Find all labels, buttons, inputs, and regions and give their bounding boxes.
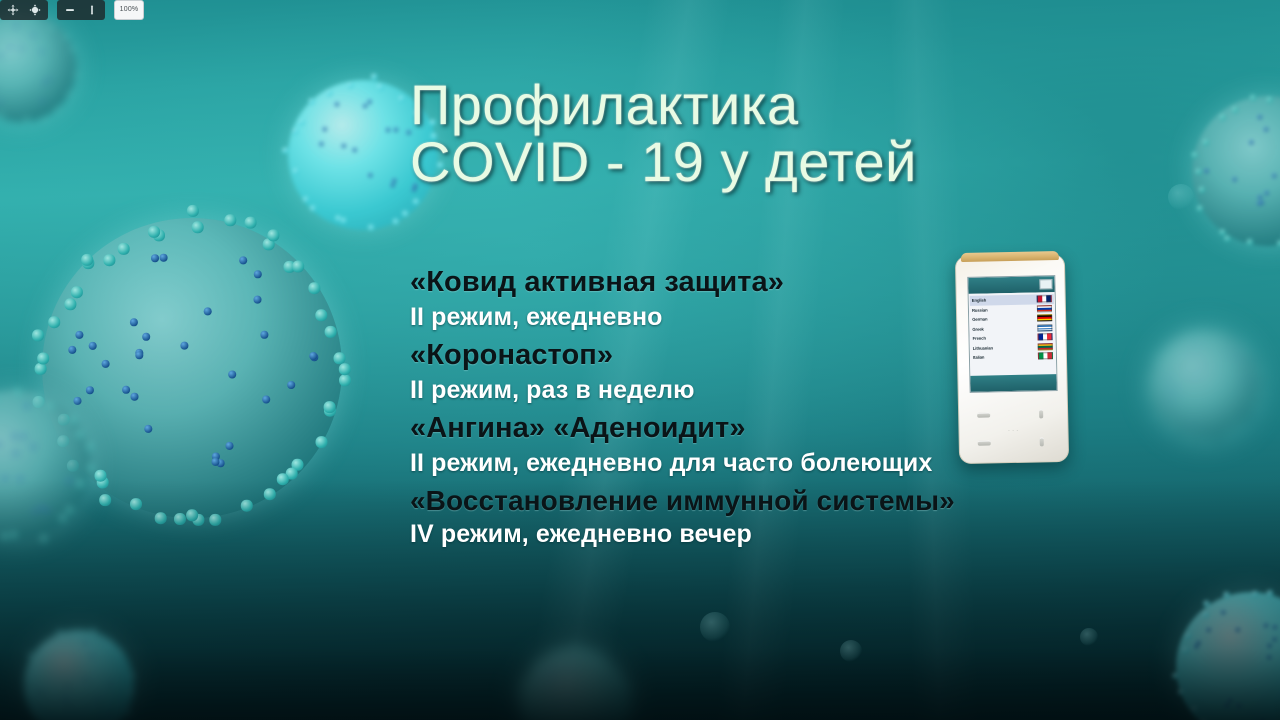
virus-spike xyxy=(87,444,93,450)
virus-spike xyxy=(187,205,198,216)
virus-receptor-dot xyxy=(204,308,212,316)
player-toolbar[interactable]: 100% xyxy=(0,0,144,22)
device-screen-statusbar xyxy=(970,374,1056,392)
virus-receptor-dot xyxy=(554,668,557,671)
virus-spike xyxy=(264,489,275,500)
virus-spike xyxy=(55,107,59,111)
virus-particle-top-left xyxy=(0,12,76,122)
virus-spike xyxy=(371,74,377,80)
virus-spike xyxy=(77,481,83,487)
program-name: «Восстановление иммунной системы» xyxy=(410,483,1200,518)
virus-spike xyxy=(1250,95,1256,101)
virus-receptor-dot xyxy=(41,99,44,102)
virus-receptor-dot xyxy=(145,425,153,433)
virus-spike xyxy=(174,513,185,524)
flag-icon xyxy=(1037,295,1052,302)
program-name: «Ковид активная защита» xyxy=(410,264,1200,301)
virus-receptor-dot xyxy=(1236,628,1240,632)
virus-receptor-dot xyxy=(353,148,357,152)
virus-receptor-dot xyxy=(1237,704,1241,708)
virus-receptor-dot xyxy=(1264,624,1268,628)
virus-receptor-dot xyxy=(545,681,548,684)
virus-receptor-dot xyxy=(65,685,68,688)
virus-receptor-dot xyxy=(254,296,262,304)
device-top-cap xyxy=(961,251,1059,262)
virus-receptor-dot xyxy=(181,342,189,350)
virus-receptor-dot xyxy=(65,701,68,704)
virus-receptor-dot xyxy=(18,477,22,481)
virus-receptor-dot xyxy=(68,708,71,711)
virus-spike xyxy=(326,90,332,96)
flag-icon xyxy=(1037,305,1052,312)
virus-receptor-dot xyxy=(310,352,318,360)
virus-spike xyxy=(70,417,76,423)
virus-receptor-dot xyxy=(1258,115,1262,119)
virus-spike xyxy=(1227,433,1231,437)
virus-receptor-dot xyxy=(239,257,247,265)
virus-spike xyxy=(1220,114,1226,120)
flag-icon xyxy=(1037,324,1052,331)
virus-receptor-dot xyxy=(1258,195,1262,199)
virus-receptor-dot xyxy=(142,333,150,341)
virus-receptor-dot xyxy=(394,128,398,132)
page-title: Профилактика COVID - 19 у детей xyxy=(410,76,1130,190)
virus-spike xyxy=(627,686,631,690)
virus-spike xyxy=(1183,647,1189,653)
virus-spike xyxy=(32,330,43,341)
virus-spike xyxy=(41,536,47,542)
virus-spike xyxy=(627,708,631,712)
title-line-1: Профилактика xyxy=(410,73,799,136)
virus-receptor-dot xyxy=(1273,625,1277,629)
virus-spike xyxy=(131,674,135,678)
virus-receptor-dot xyxy=(262,396,270,404)
virus-receptor-dot xyxy=(546,671,549,674)
device-key-left-bottom xyxy=(978,440,991,445)
language-label: Lithuanian xyxy=(973,343,993,353)
flag-icon xyxy=(1038,343,1053,350)
language-label: Greek xyxy=(972,324,984,334)
virus-spike xyxy=(347,82,353,88)
virus-receptor-dot xyxy=(33,510,37,514)
virus-spike xyxy=(1237,424,1241,428)
virus-spike xyxy=(36,395,42,401)
virus-receptor-dot xyxy=(1265,191,1269,195)
virus-spike xyxy=(1252,591,1258,597)
virus-receptor-dot xyxy=(1264,128,1268,132)
virus-body xyxy=(520,648,630,720)
virus-receptor-dot xyxy=(107,714,110,717)
virus-receptor-dot xyxy=(1221,611,1225,615)
virus-spike xyxy=(575,643,579,647)
virus-spike xyxy=(15,389,21,395)
virus-receptor-dot xyxy=(84,677,87,680)
virus-receptor-dot xyxy=(90,654,93,657)
virus-spike xyxy=(399,96,405,102)
virus-receptor-dot xyxy=(32,33,35,36)
virus-receptor-dot xyxy=(228,371,236,379)
virus-spike xyxy=(292,128,298,134)
virus-receptor-dot xyxy=(102,360,110,368)
virus-receptor-dot xyxy=(226,442,234,450)
title-line-2: COVID - 19 у детей xyxy=(410,133,1130,190)
virus-spike xyxy=(1197,206,1203,212)
virus-receptor-dot xyxy=(14,24,17,27)
bokeh-dot-1 xyxy=(700,612,730,642)
virus-spike xyxy=(299,119,305,125)
program-mode: II режим, ежедневно xyxy=(410,301,1200,334)
virus-spike xyxy=(336,216,342,222)
virus-receptor-dot xyxy=(131,393,139,401)
virus-spike xyxy=(1267,590,1273,596)
virus-spike xyxy=(1196,169,1202,175)
virus-receptor-dot xyxy=(319,142,323,146)
virus-receptor-dot xyxy=(43,81,46,84)
virus-spike xyxy=(368,225,374,231)
virus-receptor-dot xyxy=(14,451,18,455)
virus-receptor-dot xyxy=(69,346,77,354)
device-key-left-top xyxy=(977,412,990,417)
virus-spike xyxy=(393,219,399,225)
language-label: German xyxy=(972,315,987,325)
virus-spike xyxy=(1199,187,1205,193)
list-item: Italian xyxy=(971,351,1055,362)
virus-receptor-dot xyxy=(363,104,367,108)
list-item: «Коронастоп» II режим, раз в неделю xyxy=(410,337,1200,406)
virus-receptor-dot xyxy=(13,434,17,438)
virus-receptor-dot xyxy=(254,271,261,279)
virus-receptor-dot xyxy=(25,404,29,408)
virus-receptor-dot xyxy=(1244,377,1247,380)
virus-particle-bottom-center xyxy=(520,648,630,720)
virus-receptor-dot xyxy=(1194,645,1198,649)
virus-spike xyxy=(48,403,54,409)
virus-receptor-dot xyxy=(386,128,390,132)
flag-icon xyxy=(1038,352,1053,359)
virus-receptor-dot xyxy=(1268,644,1272,648)
virus-receptor-dot xyxy=(160,254,168,262)
virus-receptor-dot xyxy=(1232,351,1235,354)
virus-receptor-dot xyxy=(31,445,35,449)
pan-move-icon[interactable] xyxy=(2,1,24,19)
virus-spike xyxy=(303,197,309,203)
virus-particle-right-upper xyxy=(1192,96,1280,246)
virus-receptor-dot xyxy=(22,435,26,439)
virus-spike xyxy=(377,84,383,90)
virus-spike xyxy=(68,92,72,96)
flag-icon xyxy=(1037,333,1052,340)
virus-receptor-dot xyxy=(335,102,339,106)
virus-receptor-dot xyxy=(45,509,49,513)
virus-spike xyxy=(334,353,345,364)
language-label: Italian xyxy=(973,353,985,363)
virus-receptor-dot xyxy=(1273,637,1277,641)
virus-spike xyxy=(1247,239,1253,245)
virus-receptor-dot xyxy=(86,386,94,394)
zoom-out-icon[interactable] xyxy=(59,1,81,19)
list-item: «Ковид активная защита» II режим, ежедне… xyxy=(410,264,1200,333)
virus-spike xyxy=(155,513,166,524)
program-list: «Ковид активная защита» II режим, ежедне… xyxy=(410,264,1200,555)
virus-receptor-dot xyxy=(74,397,82,405)
virus-spike xyxy=(310,206,316,212)
virus-receptor-dot xyxy=(368,173,372,177)
slide-stage: 100% Профилактика COVID - 19 у детей «Ко… xyxy=(0,0,1280,720)
list-item: «Восстановление иммунной системы» IV реж… xyxy=(410,483,1200,551)
virus-spike xyxy=(293,168,299,174)
list-item: «Ангина» «Аденоидит» II режим, ежедневно… xyxy=(410,410,1200,479)
virus-spike xyxy=(60,515,66,521)
virus-receptor-dot xyxy=(368,100,372,104)
virus-spike xyxy=(282,148,288,154)
language-list: English Russian German Greek French xyxy=(969,292,1057,376)
virus-spike xyxy=(339,375,350,386)
virus-spike xyxy=(1203,612,1209,618)
program-name: «Ангина» «Аденоидит» xyxy=(410,410,1200,447)
virus-receptor-dot xyxy=(212,458,220,466)
virus-receptor-dot xyxy=(1272,174,1276,178)
language-label: Russian xyxy=(972,305,988,315)
virus-receptor-dot xyxy=(323,127,327,131)
virus-receptor-dot xyxy=(552,703,555,706)
virus-receptor-dot xyxy=(136,351,144,359)
virus-spike xyxy=(1224,592,1230,598)
virus-body xyxy=(24,630,134,720)
virus-spike xyxy=(2,534,8,540)
virus-receptor-dot xyxy=(550,674,553,677)
virus-spike xyxy=(1220,229,1226,235)
virus-receptor-dot xyxy=(96,699,99,702)
virus-receptor-dot xyxy=(1240,358,1243,361)
virus-receptor-dot xyxy=(151,254,159,262)
virus-spike xyxy=(1255,405,1259,409)
virus-receptor-dot xyxy=(40,506,44,510)
virus-receptor-dot xyxy=(1233,178,1237,182)
virus-receptor-dot xyxy=(287,381,295,389)
virus-spike xyxy=(1192,152,1198,158)
virus-spike xyxy=(43,118,47,122)
program-mode: II режим, раз в неделю xyxy=(410,374,1200,407)
device-screen-titlebar xyxy=(968,276,1054,294)
virus-receptor-dot xyxy=(1225,704,1229,708)
program-mode: II режим, ежедневно для часто болеющих xyxy=(410,447,1200,480)
virus-spike xyxy=(1257,370,1261,374)
virus-spike xyxy=(127,711,131,715)
flag-icon xyxy=(1037,314,1052,321)
virus-receptor-dot xyxy=(76,331,84,339)
virus-spike xyxy=(88,465,94,471)
language-label: English xyxy=(972,296,987,306)
virus-spike xyxy=(67,507,73,513)
zoom-level-field[interactable]: 100% xyxy=(114,0,144,20)
virus-spike xyxy=(1232,107,1238,113)
virus-receptor-dot xyxy=(567,699,570,702)
fit-screen-icon[interactable] xyxy=(24,1,46,19)
virus-spike xyxy=(1185,633,1191,639)
device-key-right-top xyxy=(1039,409,1043,418)
virus-receptor-dot xyxy=(83,641,86,644)
program-mode: IV режим, ежедневно вечер xyxy=(410,518,1200,551)
toolbar-group-pan[interactable] xyxy=(0,0,48,20)
virus-receptor-dot xyxy=(8,45,11,48)
virus-spike xyxy=(77,432,83,438)
virus-spike xyxy=(241,500,252,511)
virus-receptor-dot xyxy=(19,46,22,49)
virus-body xyxy=(0,12,76,122)
virus-spike xyxy=(11,532,17,538)
virus-receptor-dot xyxy=(1197,641,1201,645)
virus-spike xyxy=(1267,97,1273,103)
virus-receptor-dot xyxy=(130,319,138,327)
virus-spike xyxy=(210,514,221,525)
virus-spike xyxy=(403,211,409,217)
virus-receptor-dot xyxy=(122,386,130,394)
zoom-in-icon[interactable] xyxy=(81,1,103,19)
virus-spike xyxy=(316,436,327,447)
virus-receptor-dot xyxy=(391,183,395,187)
virus-spike xyxy=(1178,689,1184,695)
virus-receptor-dot xyxy=(3,476,7,480)
virus-receptor-dot xyxy=(1205,169,1209,173)
virus-spike xyxy=(1225,236,1231,242)
virus-spike xyxy=(339,364,350,375)
device-screen: English Russian German Greek French xyxy=(967,275,1057,393)
virus-spike xyxy=(1259,390,1263,394)
virus-spike xyxy=(100,494,111,505)
virus-receptor-dot xyxy=(67,479,71,483)
virus-receptor-dot xyxy=(1228,699,1232,703)
virus-spike xyxy=(1203,139,1209,145)
virus-particle-bottom-left xyxy=(24,630,134,720)
virus-spike xyxy=(75,73,79,77)
device-screen-titlebar-box xyxy=(1039,279,1052,289)
virus-spike xyxy=(309,98,315,104)
virus-particle-bottom-right xyxy=(1176,592,1280,720)
virus-receptor-dot xyxy=(261,331,269,339)
toolbar-group-zoom[interactable] xyxy=(57,0,105,20)
virus-spike xyxy=(1192,706,1198,712)
device-key-right-bottom xyxy=(1040,437,1044,446)
program-name: «Коронастоп» xyxy=(410,337,1200,374)
virus-receptor-dot xyxy=(1249,141,1253,145)
handheld-device-image: English Russian German Greek French xyxy=(955,254,1069,464)
virus-receptor-dot xyxy=(342,144,346,148)
virus-spike xyxy=(71,47,75,51)
virus-spike xyxy=(341,218,347,224)
virus-spike xyxy=(245,217,256,228)
virus-receptor-dot xyxy=(392,179,396,183)
bokeh-dot-4 xyxy=(1168,184,1194,210)
virus-receptor-dot xyxy=(39,690,42,693)
virus-receptor-dot xyxy=(108,682,111,685)
virus-spike xyxy=(413,199,419,205)
virus-spike xyxy=(268,230,279,241)
virus-receptor-dot xyxy=(1207,628,1211,632)
bokeh-dot-2 xyxy=(840,640,862,662)
virus-spike xyxy=(1172,673,1178,679)
virus-receptor-dot xyxy=(570,666,573,669)
virus-receptor-dot xyxy=(558,703,561,706)
virus-receptor-dot xyxy=(1267,655,1271,659)
virus-spike xyxy=(1204,439,1208,443)
virus-receptor-dot xyxy=(39,50,42,53)
bokeh-dot-3 xyxy=(1080,628,1098,646)
virus-receptor-dot xyxy=(47,77,50,80)
virus-receptor-dot xyxy=(89,342,97,350)
virus-spike xyxy=(1204,601,1210,607)
virus-receptor-dot xyxy=(62,696,65,699)
virus-receptor-dot xyxy=(1260,201,1264,205)
language-label: French xyxy=(972,334,986,344)
